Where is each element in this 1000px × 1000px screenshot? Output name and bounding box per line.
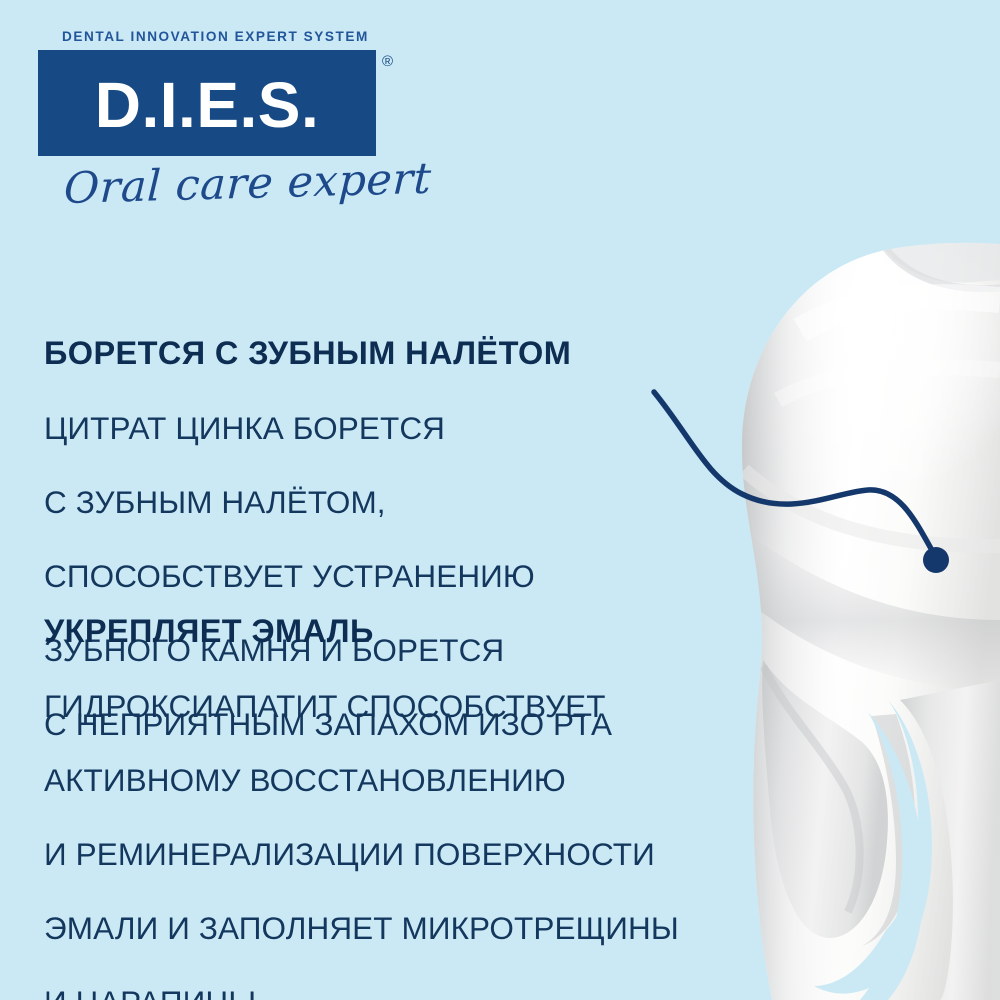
feature-body-line: С ЗУБНЫМ НАЛЁТОМ, — [44, 484, 612, 521]
callout-dot — [923, 547, 949, 573]
logo-wordmark: D.I.E.S. — [95, 73, 320, 137]
feature-body-line: ЦИТРАТ ЦИНКА БОРЕТСЯ — [44, 410, 612, 447]
logo-box-wrapper: D.I.E.S. ® — [38, 50, 376, 156]
feature-body-line: И ЦАРАПИНЫ — [44, 984, 679, 1000]
feature-block-enamel: УКРЕПЛЯЕТ ЭМАЛЬ ГИДРОКСИАПАТИТ СПОСОБСТВ… — [44, 614, 679, 1000]
registered-trademark-icon: ® — [382, 54, 393, 69]
brand-tagline-text: Oral care expert — [63, 157, 459, 211]
poster-canvas: DENTAL INNOVATION EXPERT SYSTEM D.I.E.S.… — [0, 0, 1000, 1000]
feature-body-enamel: ГИДРОКСИАПАТИТ СПОСОБСТВУЕТ АКТИВНОМУ ВО… — [44, 651, 679, 1000]
tooth-body — [690, 238, 1000, 1000]
feature-body-line: И РЕМИНЕРАЛИЗАЦИИ ПОВЕРХНОСТИ — [44, 836, 679, 873]
feature-body-line: ЭМАЛИ И ЗАПОЛНЯЕТ МИКРОТРЕЩИНЫ — [44, 910, 679, 947]
feature-heading-enamel: УКРЕПЛЯЕТ ЭМАЛЬ — [44, 614, 679, 649]
feature-heading-plaque: БОРЕТСЯ С ЗУБНЫМ НАЛЁТОМ — [44, 336, 612, 371]
logo-box: D.I.E.S. — [38, 50, 376, 156]
brand-logo-block: DENTAL INNOVATION EXPERT SYSTEM D.I.E.S.… — [38, 30, 458, 211]
brand-kicker-text: DENTAL INNOVATION EXPERT SYSTEM — [62, 30, 458, 50]
feature-body-line: ГИДРОКСИАПАТИТ СПОСОБСТВУЕТ — [44, 688, 679, 725]
feature-body-line: АКТИВНОМУ ВОССТАНОВЛЕНИЮ — [44, 762, 679, 799]
feature-body-line: СПОСОБСТВУЕТ УСТРАНЕНИЮ — [44, 558, 612, 595]
